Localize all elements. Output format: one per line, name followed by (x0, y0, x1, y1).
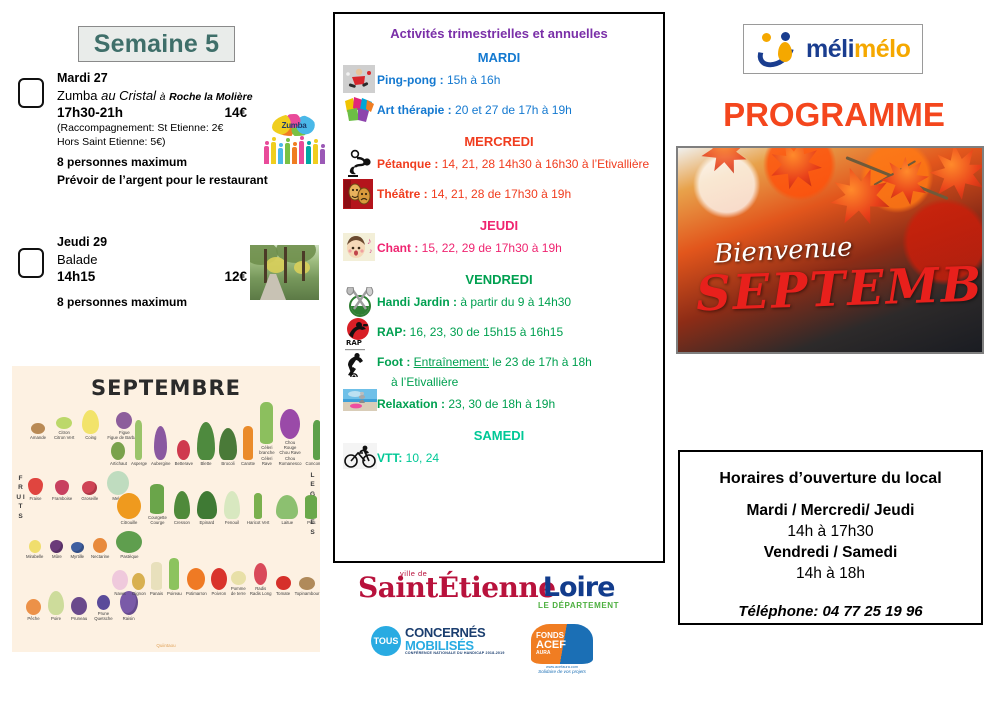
day-header-jeudi: JEUDI (335, 218, 663, 233)
produce-item-label: Coing (82, 435, 99, 440)
activity-detail: 14, 21, 28 14h30 à 16h30 à l’Etivallière (442, 157, 650, 171)
activity-row: Ping-pong : 15h à 16h (335, 65, 663, 95)
activity-name: Pétanque : (377, 157, 442, 171)
produce-glyph (50, 540, 63, 553)
activity-name: Foot : (377, 355, 414, 369)
produce-item-label: Tomate (276, 591, 291, 596)
petanque-icon (343, 149, 377, 179)
concernes-line-3: CONFÉRENCE NATIONALE DU HANDICAP 2018-20… (405, 652, 505, 656)
produce-glyph (313, 420, 320, 460)
fonds-acef-logo: FONDS ACEF AURA www.acefaura.com Solidai… (531, 624, 593, 674)
activity-detail: 15h à 16h (447, 73, 500, 87)
produce-item-label: Prune Quetsche (94, 611, 112, 622)
produce-item: Poire (48, 591, 64, 621)
produce-glyph (280, 409, 300, 439)
svg-text:♪: ♪ (367, 236, 372, 246)
produce-item-label: Brocoli (219, 461, 237, 466)
zumba-wordmark (272, 114, 316, 136)
activities-panel: Activités trimestrielles et annuelles MA… (333, 12, 665, 563)
produce-item: Fraise (28, 478, 43, 501)
produce-item: Pois (305, 495, 317, 525)
activity-row: Relaxation : 23, 30 de 18h à 19h (335, 389, 663, 419)
produce-glyph (112, 570, 128, 590)
produce-item-label: Potimarron (186, 591, 207, 596)
svg-text:♪: ♪ (369, 248, 373, 255)
produce-item: Céleri branche Céleri Rave (259, 402, 275, 466)
produce-glyph (55, 480, 69, 495)
produce-glyph (151, 562, 162, 590)
saint-etienne-tagline: ville de (400, 569, 427, 578)
activity-name: VTT: (377, 451, 406, 465)
activity-name: Relaxation : (377, 397, 448, 411)
saint-etienne-wordmark: SaintÉtienne (358, 571, 556, 604)
produce-item-label: Raisin (120, 616, 138, 621)
event-price: 12€ (224, 268, 247, 286)
cycling-icon (343, 443, 377, 473)
produce-item: Cresson (174, 491, 190, 525)
produce-item-label: Carotte (241, 461, 255, 466)
produce-glyph (276, 576, 291, 590)
produce-item: Aubergine (151, 426, 171, 466)
rap-icon: RAP (343, 317, 377, 347)
produce-item: Poivron (211, 568, 227, 596)
activity-text: Handi Jardin : à partir du 9 à 14h30 (377, 295, 571, 310)
fruits-side-label: F R U I T S (16, 474, 25, 521)
relaxation-icon (343, 389, 377, 419)
produce-item-label: Céleri branche Céleri Rave (259, 445, 275, 466)
activity-name: Art thérapie : (377, 103, 455, 117)
produce-glyph (177, 440, 190, 460)
partner-logos: ville de SaintÉtienne Loire LE DÉPARTEME… (333, 566, 665, 696)
produce-item: Myrtille (70, 542, 84, 559)
event-time: 14h15 (57, 268, 95, 286)
produce-row-vegetables-3: NavetOignonPanaisPoireauPotimarronPoivro… (112, 558, 319, 596)
balade-photo (250, 245, 319, 300)
produce-item: Citron Citron Vert (54, 417, 74, 441)
produce-item: Epinard (197, 491, 217, 525)
svg-text:RAP: RAP (346, 339, 362, 347)
produce-glyph (305, 495, 317, 519)
week-badge-label: Semaine 5 (94, 30, 219, 59)
produce-item-label: Radis Radis Long (250, 586, 272, 597)
singing-icon: ♪♪ (343, 233, 377, 263)
activity-text: Chant : 15, 22, 29 de 17h30 à 19h (377, 241, 562, 256)
activity-row: Art thérapie : 20 et 27 de 17h à 19h (335, 95, 663, 125)
produce-item-label: Panais (150, 591, 163, 596)
produce-item: Pomme de terre (231, 571, 246, 597)
produce-item-label: Pruneau (71, 616, 87, 621)
melimelo-word-a: méli (806, 35, 854, 63)
zumba-logo-icon (262, 114, 328, 166)
activity-row: Pétanque : 14, 21, 28 14h30 à 16h30 à l’… (335, 149, 663, 179)
week-badge: Semaine 5 (78, 26, 235, 62)
loire-subtitle: LE DÉPARTEMENT (538, 601, 619, 610)
event-jeudi29: Jeudi 29 Balade 14h15 12€ 8 personnes ma… (57, 234, 247, 311)
event-note-2: Hors Saint Etienne: 5€) (57, 136, 268, 150)
produce-row-fruits-3: MirabelleMûreMyrtilleNectarinePastèque (26, 531, 142, 559)
maple-leaf-icon (694, 146, 756, 182)
produce-item: Artichaut (110, 442, 127, 466)
produce-row-fruits-2: FraiseFramboiseGroseilleMelon (28, 471, 129, 501)
produce-glyph (254, 493, 262, 519)
event-activity-town: Roche la Molière (169, 91, 252, 103)
activity-detail: à partir du 9 à 14h30 (460, 295, 571, 309)
opening-hours-title: Horaires d’ouverture du local (719, 470, 941, 488)
produce-glyph (117, 493, 141, 519)
produce-glyph (135, 420, 142, 460)
produce-glyph (150, 484, 164, 514)
acef-slogan: Solidaire de vos projets (531, 669, 593, 674)
produce-item-label: Poivron (211, 591, 227, 596)
day-header-vendredi: VENDREDI (335, 272, 663, 287)
right-column: mélimélo PROGRAMME Bienvenue SEPTEMBRE H… (668, 0, 1000, 707)
autumn-welcome-banner: Bienvenue SEPTEMBRE (676, 146, 984, 354)
produce-item-label: Artichaut (110, 461, 127, 466)
produce-glyph (154, 426, 167, 460)
produce-item: Poireau (167, 558, 182, 596)
event-day-label: Jeudi 29 (57, 234, 247, 251)
activity-name: Ping-pong : (377, 73, 447, 87)
produce-item: Radis Radis Long (250, 563, 272, 597)
produce-item: Topinambour (295, 577, 320, 596)
activity-name: Théâtre : (377, 187, 431, 201)
produce-item-label: Asperge (131, 461, 147, 466)
produce-item: Potimarron (186, 568, 207, 596)
produce-item-label: Mirabelle (26, 554, 43, 559)
produce-item: Citrouille (117, 493, 141, 525)
activity-detail: le 23 de 17h à 18h (489, 355, 592, 369)
activity-text: Théâtre : 14, 21, 28 de 17h30 à 19h (377, 187, 571, 202)
produce-glyph (197, 491, 217, 519)
loire-wordmark: Loire (538, 572, 619, 603)
produce-glyph (71, 542, 84, 553)
melimelo-word-b: mélo (854, 35, 910, 63)
produce-item-label: Nectarine (91, 554, 109, 559)
activity-text: RAP: 16, 23, 30 de 15h15 à 16h15 (377, 325, 563, 340)
event-activity-a: à (160, 91, 166, 103)
produce-glyph (97, 595, 110, 610)
activity-text: VTT: 10, 24 (377, 451, 439, 466)
produce-item-label: Laitue (276, 520, 298, 525)
activity-row: ♪♪Chant : 15, 22, 29 de 17h30 à 19h (335, 233, 663, 263)
activity-text: Art thérapie : 20 et 27 de 17h à 19h (377, 103, 572, 118)
produce-item: Betterave (175, 440, 193, 466)
produce-item-label: Amande (30, 435, 46, 440)
event-checkbox-jeudi29[interactable] (18, 248, 44, 278)
activity-text: Ping-pong : 15h à 16h (377, 73, 500, 88)
event-activity-name: Balade (57, 251, 247, 268)
produce-item: Pruneau (71, 597, 87, 621)
produce-glyph (48, 591, 64, 615)
event-day-label: Mardi 27 (57, 70, 268, 87)
activity-detail: 16, 23, 30 de 15h15 à 16h15 (410, 325, 563, 339)
produce-glyph (187, 568, 205, 590)
produce-row-vegetables-1: ArtichautAspergeAubergineBetteraveBlette… (110, 402, 320, 466)
produce-glyph (197, 422, 215, 460)
produce-item: Blette (197, 422, 215, 466)
football-icon (343, 347, 377, 377)
loire-logo: Loire LE DÉPARTEMENT (538, 572, 619, 610)
produce-item-label: Blette (197, 461, 215, 466)
produce-glyph (211, 568, 227, 590)
produce-glyph (111, 442, 125, 460)
activity-detail-emphasis: Entraînement: (414, 355, 489, 369)
produce-item: Courgette Courge (148, 484, 167, 526)
produce-item-label: Fenouil (224, 520, 240, 525)
gardening-icon (343, 287, 377, 317)
september-produce-poster: SEPTEMBRE F R U I T S L E G U M E S Aman… (12, 366, 320, 652)
produce-glyph (231, 571, 246, 585)
opening-hours-days-1: Mardi / Mercredi/ Jeudi (747, 502, 915, 520)
produce-item-label: Citrouille (117, 520, 141, 525)
produce-item: Pêche (26, 599, 41, 621)
acef-mark-text: FONDS ACEF AURA (531, 624, 593, 664)
event-time: 17h30-21h (57, 104, 123, 122)
produce-item-label: Haricot Vert (247, 520, 269, 525)
concernes-mobilises-logo: TOUS CONCERNÉS MOBILISÉS CONFÉRENCE NATI… (371, 626, 505, 656)
event-activity-line: Zumba au Cristal à Roche la Molière (57, 87, 268, 105)
activity-name: Handi Jardin : (377, 295, 460, 309)
event-activity-name: Zumba (57, 88, 97, 103)
produce-item: Mûre (50, 540, 63, 559)
produce-item-label: Chou Rouge Chou Rave Chou Romanesco (279, 440, 302, 467)
event-activity-venue: au Cristal (101, 88, 156, 103)
produce-item-label: Epinard (197, 520, 217, 525)
produce-item-label: Topinambour (295, 591, 320, 596)
produce-glyph (132, 573, 145, 590)
produce-item: Prune Quetsche (94, 595, 112, 622)
produce-poster-credit: Quiintaou (12, 643, 320, 648)
melimelo-wordmark: mélimélo (806, 35, 910, 64)
produce-item-label: Myrtille (70, 554, 84, 559)
activity-row: Handi Jardin : à partir du 9 à 14h30 (335, 287, 663, 317)
melimelo-logo: mélimélo (743, 24, 923, 74)
produce-poster-title: SEPTEMBRE (12, 376, 320, 400)
produce-item: Nectarine (91, 538, 109, 559)
activity-row: RAPRAP: 16, 23, 30 de 15h15 à 16h15 (335, 317, 663, 347)
produce-item-label: Pois (305, 520, 317, 525)
activity-name: Chant : (377, 241, 422, 255)
produce-item-label: Concombre (306, 461, 320, 466)
maple-leaf-icon (822, 158, 899, 235)
produce-glyph (169, 558, 179, 590)
produce-item: Groseille (81, 481, 98, 501)
event-extra-note: Prévoir de l’argent pour le restaurant (57, 173, 268, 189)
produce-item: Carotte (241, 426, 255, 466)
produce-item-label: Poire (48, 616, 64, 621)
zumba-dancers-icon (262, 134, 328, 166)
event-price: 14€ (224, 104, 247, 122)
programme-title: PROGRAMME (668, 96, 1000, 134)
event-time-price-row: 14h15 12€ (57, 268, 247, 286)
produce-item: Oignon (132, 573, 146, 596)
produce-row-vegetables-2: CitrouilleCourgette CourgeCressonEpinard… (117, 484, 317, 526)
event-mardi27: Mardi 27 Zumba au Cristal à Roche la Mol… (57, 70, 268, 189)
activity-detail: 15, 22, 29 de 17h30 à 19h (422, 241, 562, 255)
tous-badge: TOUS (371, 626, 401, 656)
produce-glyph (56, 417, 72, 429)
event-note-1: (Raccompagnement: St Etienne: 2€ (57, 122, 268, 136)
acef-line-3: AURA (536, 651, 550, 656)
produce-item: Coing (82, 410, 99, 440)
activity-text: Foot : Entraînement: le 23 de 17h à 18h (377, 355, 592, 370)
produce-glyph (219, 428, 237, 460)
produce-item: Framboise (52, 480, 72, 501)
produce-item-label: Pomme de terre (231, 586, 246, 597)
event-max-participants: 8 personnes maximum (57, 155, 268, 171)
produce-glyph (93, 538, 107, 553)
event-checkbox-mardi27[interactable] (18, 78, 44, 108)
ping-pong-icon (343, 65, 377, 95)
banner-month-text: SEPTEMBRE (695, 254, 984, 323)
event-time-price-row: 17h30-21h 14€ (57, 104, 247, 122)
produce-item: Amande (30, 423, 46, 440)
produce-item: Laitue (276, 495, 298, 525)
produce-item: Brocoli (219, 428, 237, 466)
activities-panel-title: Activités trimestrielles et annuelles (335, 26, 663, 41)
maple-leaf-icon (764, 146, 828, 196)
produce-item-label: Betterave (175, 461, 193, 466)
activity-detail: 10, 24 (406, 451, 439, 465)
produce-glyph (243, 426, 253, 460)
produce-glyph (224, 491, 240, 519)
opening-hours-times-2: 14h à 18h (796, 565, 865, 583)
produce-item-label: Oignon (132, 591, 146, 596)
activity-name: RAP: (377, 325, 410, 339)
produce-item-label: Pêche (26, 616, 41, 621)
opening-hours-days-2: Vendredi / Samedi (764, 544, 898, 562)
acef-mark-icon: FONDS ACEF AURA (531, 624, 593, 664)
activity-row: Théâtre : 14, 21, 28 de 17h30 à 19h (335, 179, 663, 209)
activity-text: Pétanque : 14, 21, 28 14h30 à 16h30 à l’… (377, 157, 649, 172)
produce-glyph (26, 599, 41, 615)
melimelo-mark-icon (754, 31, 806, 67)
produce-item-label: Citron Citron Vert (54, 430, 74, 441)
produce-glyph (82, 481, 97, 495)
produce-glyph (28, 478, 43, 495)
produce-item: Mirabelle (26, 540, 43, 559)
produce-glyph (31, 423, 45, 434)
produce-item: Pastèque (116, 531, 142, 559)
produce-item-label: Groseille (81, 496, 98, 501)
produce-item-label: Poireau (167, 591, 182, 596)
produce-item-label: Cresson (174, 520, 190, 525)
opening-hours-times-1: 14h à 17h30 (787, 523, 873, 541)
produce-item-label: Fraise (28, 496, 43, 501)
day-header-samedi: SAMEDI (335, 428, 663, 443)
activity-detail: 20 et 27 de 17h à 19h (455, 103, 572, 117)
produce-glyph (276, 495, 298, 519)
activity-detail: 14, 21, 28 de 17h30 à 19h (431, 187, 571, 201)
activities-days-container: MARDIPing-pong : 15h à 16hArt thérapie :… (335, 50, 663, 473)
produce-glyph (29, 540, 41, 553)
event-max-participants: 8 personnes maximum (57, 295, 247, 311)
concernes-text: CONCERNÉS MOBILISÉS CONFÉRENCE NATIONALE… (405, 626, 505, 656)
produce-glyph (260, 402, 273, 444)
day-header-mardi: MARDI (335, 50, 663, 65)
contact-phone: Téléphone: 04 77 25 19 96 (738, 603, 922, 620)
produce-glyph (116, 531, 142, 553)
produce-item-label: Mûre (50, 554, 63, 559)
produce-glyph (82, 410, 99, 434)
art-therapy-icon (343, 95, 377, 125)
saint-etienne-logo: ville de SaintÉtienne (358, 571, 556, 604)
produce-item: Chou Rouge Chou Rave Chou Romanesco (279, 409, 302, 467)
produce-glyph (299, 577, 315, 590)
produce-item: Haricot Vert (247, 493, 269, 525)
produce-item-label: Courgette Courge (148, 515, 167, 526)
theatre-masks-icon (343, 179, 377, 209)
activity-text: Relaxation : 23, 30 de 18h à 19h (377, 397, 555, 412)
produce-item: Concombre (306, 420, 320, 466)
opening-hours-box: Horaires d’ouverture du local Mardi / Me… (678, 450, 983, 625)
produce-glyph (254, 563, 267, 585)
produce-item: Panais (150, 562, 163, 596)
produce-item-label: Navet (112, 591, 128, 596)
produce-item-label: Framboise (52, 496, 72, 501)
activity-detail: 23, 30 de 18h à 19h (448, 397, 555, 411)
produce-item: Asperge (131, 420, 147, 466)
day-header-mercredi: MERCREDI (335, 134, 663, 149)
left-column: Semaine 5 Mardi 27 Zumba au Cristal à Ro… (0, 0, 330, 707)
produce-item: Fenouil (224, 491, 240, 525)
produce-item-label: Aubergine (151, 461, 171, 466)
activity-row: Foot : Entraînement: le 23 de 17h à 18h (335, 347, 663, 377)
produce-item: Navet (112, 570, 128, 596)
produce-item: Tomate (276, 576, 291, 596)
produce-glyph (71, 597, 87, 615)
activity-location-continuation: à l’Etivallière (391, 375, 663, 389)
activity-row: VTT: 10, 24 (335, 443, 663, 473)
produce-glyph (174, 491, 190, 519)
